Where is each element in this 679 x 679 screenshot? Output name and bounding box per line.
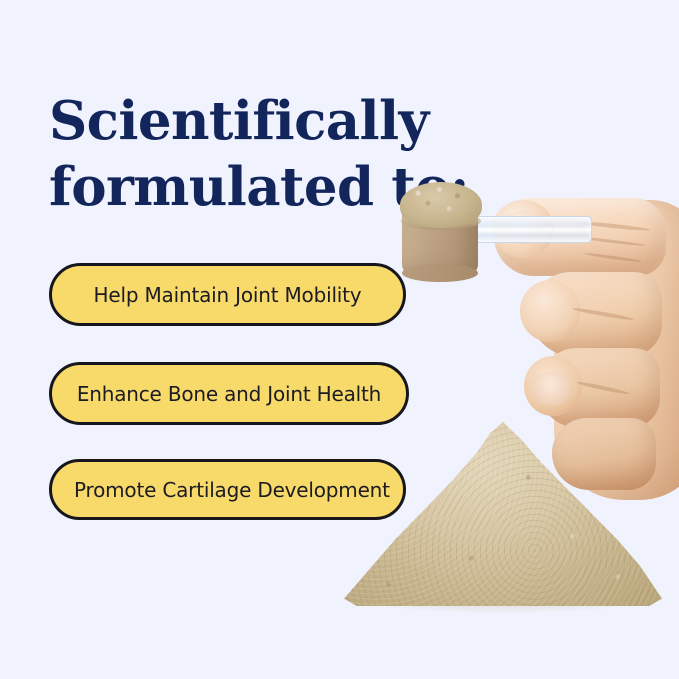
powder-in-scoop xyxy=(400,182,482,228)
supplement-powder-pile xyxy=(344,422,662,606)
powder-grain-texture xyxy=(344,422,662,606)
product-photo xyxy=(330,150,679,620)
powder-pile-cone xyxy=(344,422,662,606)
headline-line-1: Scientifically xyxy=(49,88,479,154)
ring-fingernail xyxy=(532,372,572,406)
scoop-cup-base xyxy=(402,264,478,282)
measuring-scoop xyxy=(402,192,592,292)
promo-image: Scientifically formulated to: Help Maint… xyxy=(0,0,679,679)
